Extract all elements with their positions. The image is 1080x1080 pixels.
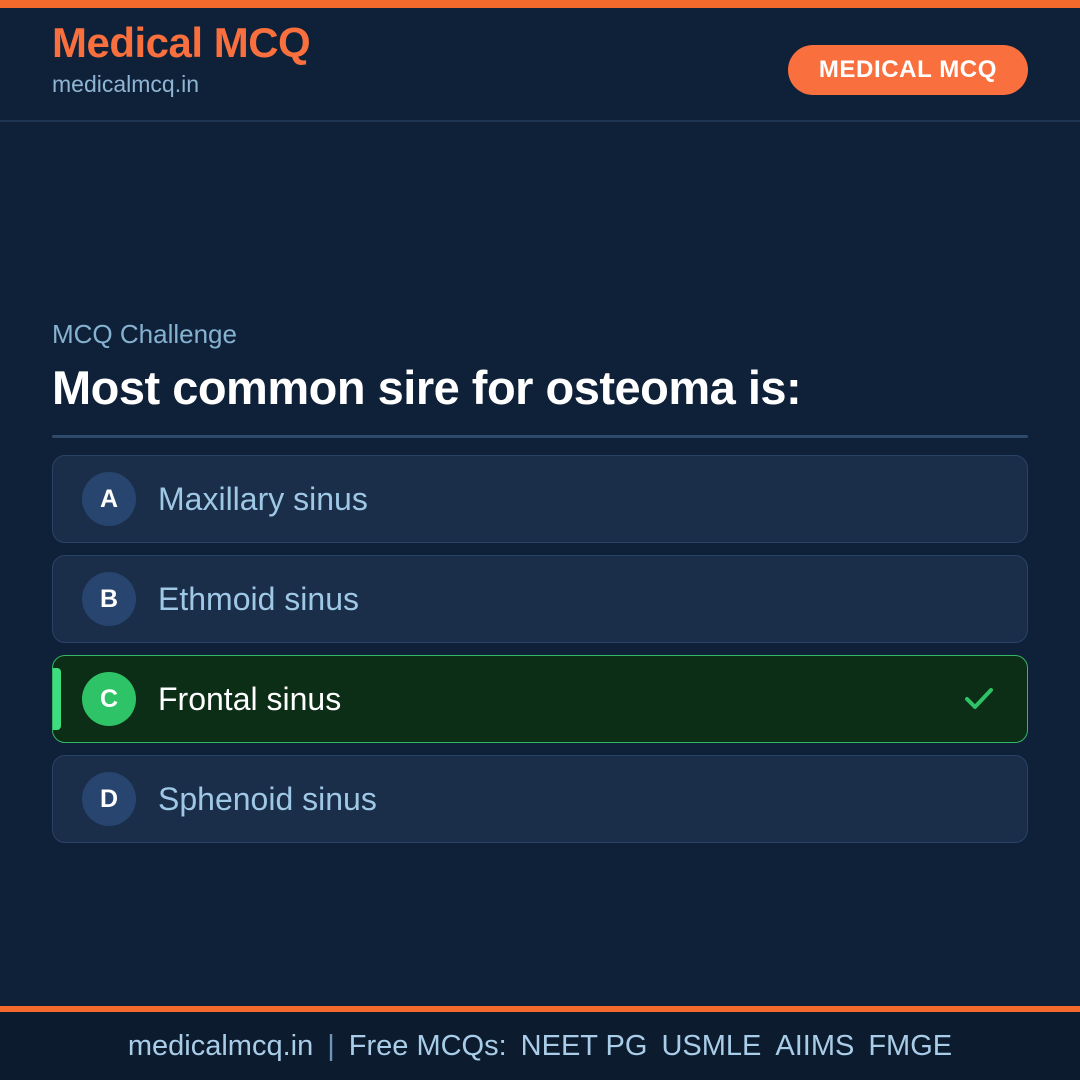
option-a-text: Maxillary sinus bbox=[158, 480, 368, 518]
option-b[interactable]: B Ethmoid sinus bbox=[52, 555, 1028, 643]
footer-exam: AIIMS bbox=[775, 1032, 854, 1061]
content: MCQ Challenge Most common sire for osteo… bbox=[0, 122, 1080, 1006]
top-accent-bar bbox=[0, 0, 1080, 8]
question-kicker: MCQ Challenge bbox=[52, 318, 1028, 351]
option-d-letter: D bbox=[82, 772, 136, 826]
option-b-text: Ethmoid sinus bbox=[158, 580, 359, 618]
footer-separator: | bbox=[327, 1032, 335, 1061]
options-list: A Maxillary sinus B Ethmoid sinus C Fron… bbox=[52, 455, 1028, 843]
mcq-card: Medical MCQ medicalmcq.in MEDICAL MCQ MC… bbox=[0, 0, 1080, 1080]
question-text: Most common sire for osteoma is: bbox=[52, 361, 1028, 416]
option-c-text: Frontal sinus bbox=[158, 680, 341, 718]
option-d[interactable]: D Sphenoid sinus bbox=[52, 755, 1028, 843]
footer-exam: USMLE bbox=[661, 1032, 761, 1061]
option-a[interactable]: A Maxillary sinus bbox=[52, 455, 1028, 543]
option-c-letter: C bbox=[82, 672, 136, 726]
option-a-letter: A bbox=[82, 472, 136, 526]
brand-title: Medical MCQ bbox=[52, 21, 310, 65]
footer-site: medicalmcq.in bbox=[128, 1032, 313, 1061]
brand: Medical MCQ medicalmcq.in bbox=[52, 21, 310, 102]
footer-exam-list: NEET PG USMLE AIIMS FMGE bbox=[521, 1032, 952, 1061]
footer-accent-bar bbox=[0, 1006, 1080, 1012]
option-c[interactable]: C Frontal sinus bbox=[52, 655, 1028, 743]
footer: medicalmcq.in | Free MCQs: NEET PG USMLE… bbox=[0, 1006, 1080, 1080]
question-block: MCQ Challenge Most common sire for osteo… bbox=[52, 318, 1028, 438]
footer-label: Free MCQs: bbox=[349, 1032, 507, 1061]
correct-accent-bar bbox=[53, 668, 61, 730]
question-divider bbox=[52, 435, 1028, 438]
brand-subtitle: medicalmcq.in bbox=[52, 67, 310, 102]
footer-text: medicalmcq.in | Free MCQs: NEET PG USMLE… bbox=[128, 1032, 952, 1061]
header-badge: MEDICAL MCQ bbox=[788, 45, 1028, 95]
footer-exam: FMGE bbox=[868, 1032, 952, 1061]
header: Medical MCQ medicalmcq.in MEDICAL MCQ bbox=[0, 0, 1080, 122]
footer-exam: NEET PG bbox=[521, 1032, 648, 1061]
check-icon bbox=[961, 681, 997, 717]
option-d-text: Sphenoid sinus bbox=[158, 780, 377, 818]
option-b-letter: B bbox=[82, 572, 136, 626]
